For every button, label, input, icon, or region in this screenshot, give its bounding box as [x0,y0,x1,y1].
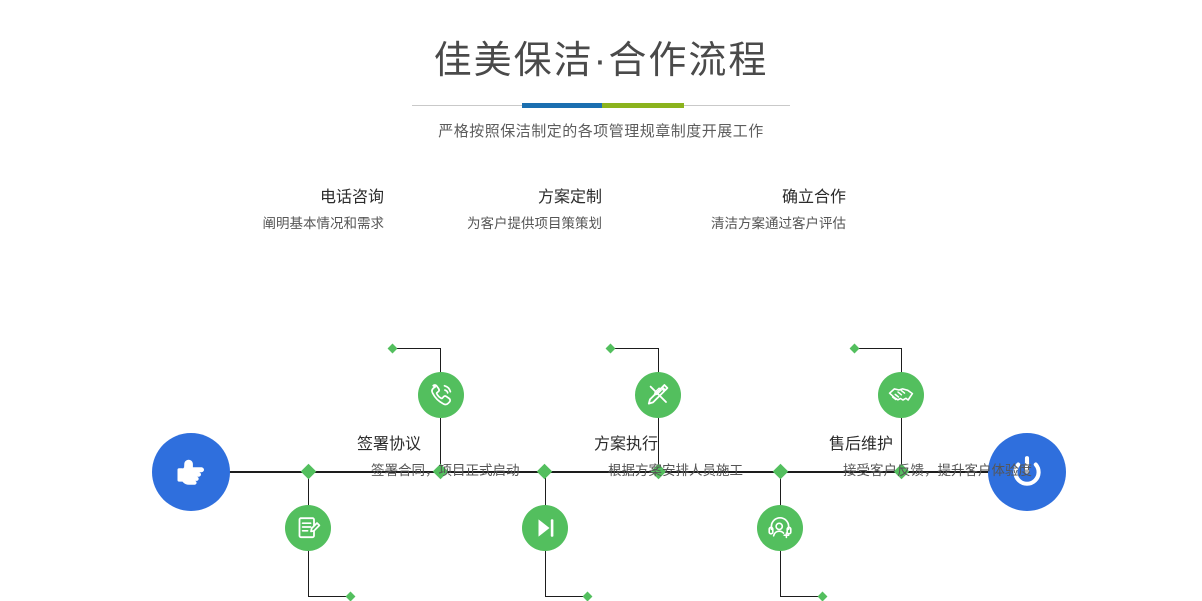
step-title-6: 售后维护 [829,437,1032,453]
connector-v-step-1 [440,348,441,374]
connector-h-step-6 [780,596,822,597]
step-title-5: 确立合作 [642,190,846,206]
customer-support-icon [766,514,794,542]
pencil-edit-icon [644,381,672,409]
connector-v-step-3 [658,348,659,374]
connector-h-step-3 [612,348,659,349]
flow-start-node[interactable] [152,433,230,511]
label-marker-step-2 [346,592,356,601]
process-timeline: 电话咨询 阐明基本情况和需求 签署协议 签署合同，项目正式启动 [0,150,1202,502]
axis-marker-5 [773,464,789,480]
step-title-2: 签署协议 [357,437,520,453]
step-node-1[interactable] [418,372,464,418]
handshake-icon [887,381,915,409]
step-node-6[interactable] [757,505,803,551]
step-desc-1: 阐明基本情况和需求 [180,217,384,231]
step-desc-5: 清洁方案通过客户评估 [642,217,846,231]
label-marker-step-3 [606,344,616,354]
step-desc-6: 接受客户反馈，提升客户体验度 [843,464,1032,478]
step-title-1: 电话咨询 [180,190,384,206]
label-marker-step-5 [850,344,860,354]
step-node-2[interactable] [285,505,331,551]
step-label-3: 方案定制 为客户提供项目策策划 [398,190,602,231]
step-node-3[interactable] [635,372,681,418]
connector-h-step-2 [308,596,350,597]
step-label-5: 确立合作 清洁方案通过客户评估 [642,190,846,231]
connector-h-step-4 [545,596,587,597]
axis-marker-3 [537,464,553,480]
connector-h-step-1 [394,348,441,349]
play-forward-icon [531,514,559,542]
step-desc-4: 根据方案安排人员施工 [608,464,743,478]
connector-v-step-5 [901,348,902,374]
step-label-1: 电话咨询 阐明基本情况和需求 [180,190,384,231]
pointing-hand-icon [169,450,213,494]
step-label-6: 售后维护 接受客户反馈，提升客户体验度 [829,437,1032,478]
step-node-4[interactable] [522,505,568,551]
step-label-4: 方案执行 根据方案安排人员施工 [594,437,743,478]
phone-call-icon [427,381,455,409]
page-title: 佳美保洁·合作流程 [0,0,1202,80]
flow-infographic: 佳美保洁·合作流程 严格按照保洁制定的各项管理规章制度开展工作 [0,0,1202,502]
step-title-4: 方案执行 [594,437,743,453]
label-marker-step-6 [818,592,828,601]
step-label-2: 签署协议 签署合同，项目正式启动 [357,437,520,478]
step-node-5[interactable] [878,372,924,418]
connector-v-step-6 [780,550,781,596]
divider-blue-segment [522,103,602,108]
title-divider [412,103,790,108]
label-marker-step-4 [583,592,593,601]
header: 佳美保洁·合作流程 严格按照保洁制定的各项管理规章制度开展工作 [0,0,1202,141]
step-desc-3: 为客户提供项目策策划 [398,217,602,231]
label-marker-step-1 [388,344,398,354]
divider-green-segment [602,103,684,108]
connector-h-step-5 [856,348,902,349]
step-title-3: 方案定制 [398,190,602,206]
connector-v-step-4 [545,550,546,596]
connector-v-step-2 [308,550,309,596]
page-subtitle: 严格按照保洁制定的各项管理规章制度开展工作 [0,120,1202,141]
axis-marker-1 [301,464,317,480]
step-desc-2: 签署合同，项目正式启动 [371,464,520,478]
document-edit-icon [294,514,322,542]
